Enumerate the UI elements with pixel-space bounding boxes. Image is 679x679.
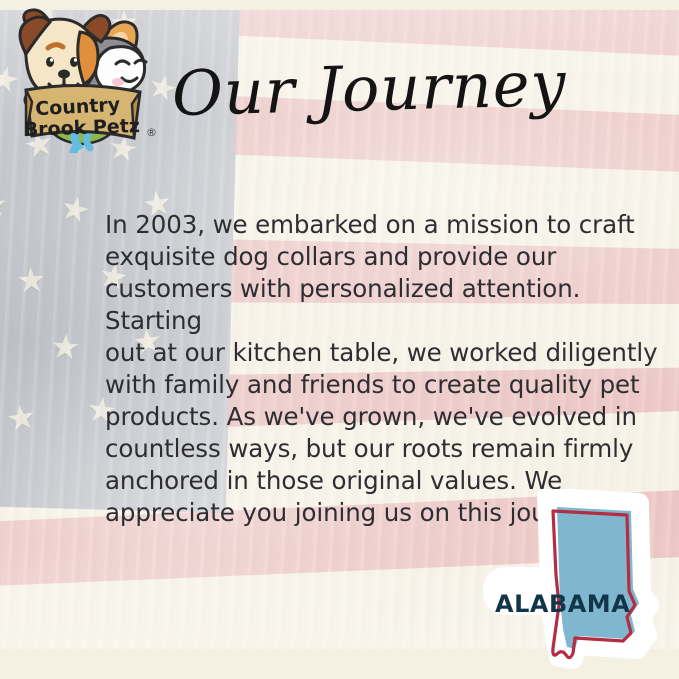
- marketing-banner: ★ ★ ★ ★ ★ ★ ★ ★ ★ ★ ★ ★ ★ ★ ★ ★ ★ ★ ★ ★: [0, 0, 679, 679]
- flag-star-icon: ★: [15, 263, 47, 299]
- alabama-state-badge: ALABAMA: [481, 489, 669, 671]
- journey-line: out at our kitchen table, we worked dili…: [105, 337, 671, 369]
- journey-line: with family and friends to create qualit…: [105, 369, 671, 401]
- logo-banner-line2: Brook Petz: [23, 115, 140, 141]
- flag-star-icon: ★: [3, 399, 39, 438]
- registered-trademark-icon: ®: [146, 126, 157, 139]
- journey-paragraph: In 2003, we embarked on a mission to cra…: [105, 209, 671, 529]
- country-brook-petz-logo[interactable]: Country Brook Petz ®: [6, 8, 158, 153]
- flag-star-icon: ★: [0, 187, 10, 223]
- journey-line: countless ways, but our roots remain fir…: [105, 433, 671, 465]
- flag-star-icon: ★: [49, 329, 82, 365]
- page-title: Our Journey: [171, 53, 567, 125]
- journey-line: products. As we've grown, we've evolved …: [105, 401, 671, 433]
- flag-star-icon: ★: [56, 190, 94, 230]
- journey-line: customers with personalized attention. S…: [105, 273, 671, 337]
- journey-line: exquisite dog collars and provide our: [105, 241, 671, 273]
- journey-line: In 2003, we embarked on a mission to cra…: [105, 209, 671, 241]
- flag-star-icon: ★: [0, 321, 2, 362]
